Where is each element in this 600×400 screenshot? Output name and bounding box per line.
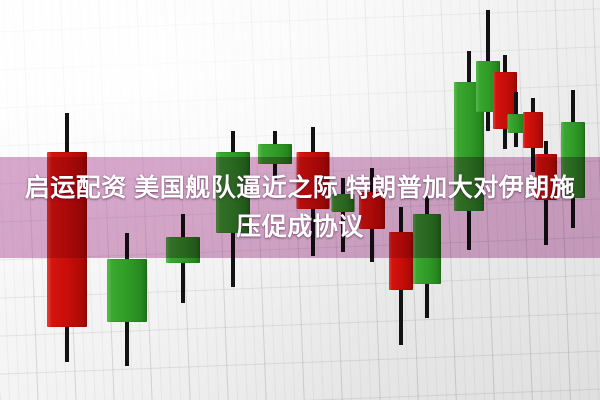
news-thumbnail: 启运配资 美国舰队逼近之际 特朗普加大对伊朗施 压促成协议 — [0, 0, 600, 400]
headline-band — [0, 157, 600, 258]
candlestick-body-up — [107, 259, 147, 322]
candlestick-body-down — [523, 112, 543, 148]
candlestick-body-up — [508, 114, 525, 133]
